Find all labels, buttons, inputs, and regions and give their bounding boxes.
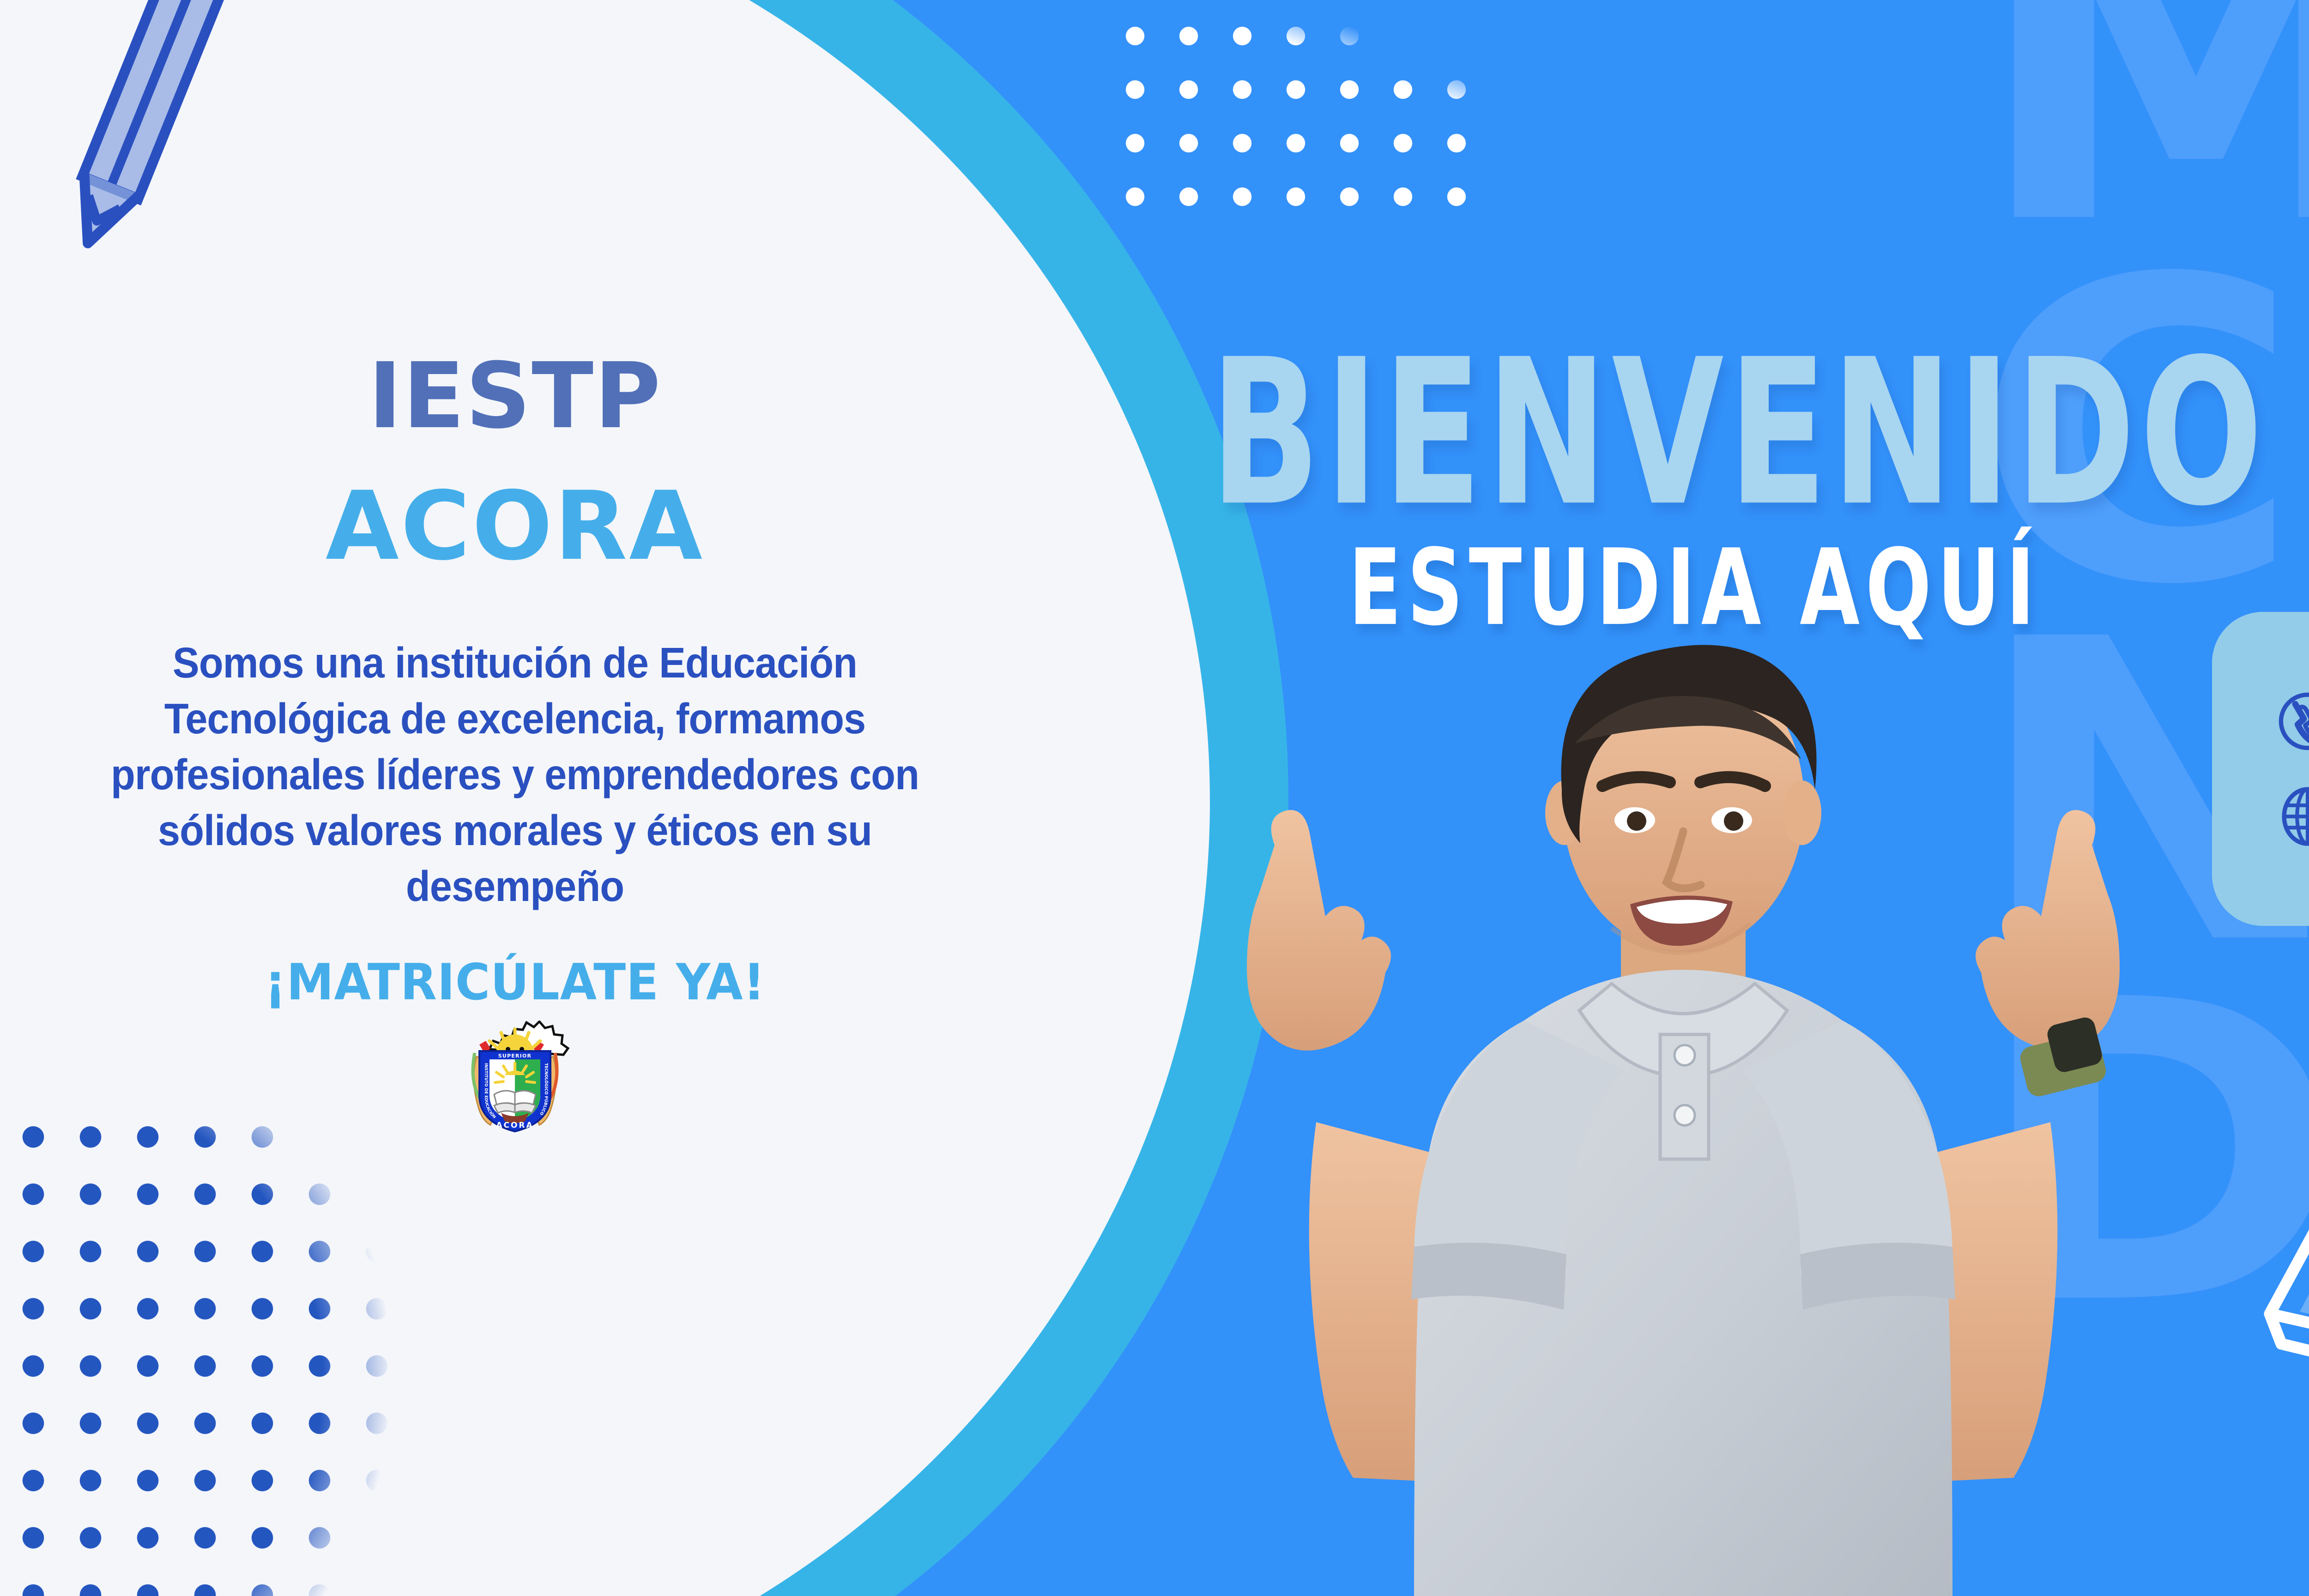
enroll-cta[interactable]: ¡MATRICÚLATE YA! bbox=[26, 954, 1004, 1011]
phone-icon bbox=[2277, 690, 2309, 752]
contact-row-phone[interactable]: +51 987456021 bbox=[2277, 690, 2309, 752]
student-photo bbox=[1205, 605, 2161, 1596]
contact-row-email[interactable]: instituto@iestpacora.edu.pe bbox=[2277, 786, 2309, 847]
svg-text:ACORA: ACORA bbox=[496, 1121, 533, 1130]
crest-container: SUPERIOR ACORA INSTITUTO DE EDUCACIÓN TE… bbox=[0, 1021, 1030, 1143]
institution-name: ACORA bbox=[0, 479, 1030, 574]
institution-crest-icon: SUPERIOR ACORA INSTITUTO DE EDUCACIÓN TE… bbox=[457, 1021, 573, 1143]
banner-canvas: MEJOR CONTI NUAN DO bbox=[0, 0, 2309, 1596]
globe-icon bbox=[2277, 786, 2309, 847]
books-icon bbox=[2226, 1025, 2309, 1399]
svg-text:SUPERIOR: SUPERIOR bbox=[498, 1053, 532, 1059]
pencil-icon bbox=[14, 0, 272, 282]
contact-card: +51 987456021 instituto@iestpacora.edu.p… bbox=[2212, 612, 2309, 926]
institution-acronym: IESTP bbox=[0, 351, 1030, 441]
left-info-panel: IESTP ACORA Somos una institución de Edu… bbox=[0, 351, 1030, 1143]
welcome-heading: BIENVENIDO bbox=[1210, 332, 2267, 534]
institution-description: Somos una institución de Educación Tecno… bbox=[36, 635, 994, 914]
